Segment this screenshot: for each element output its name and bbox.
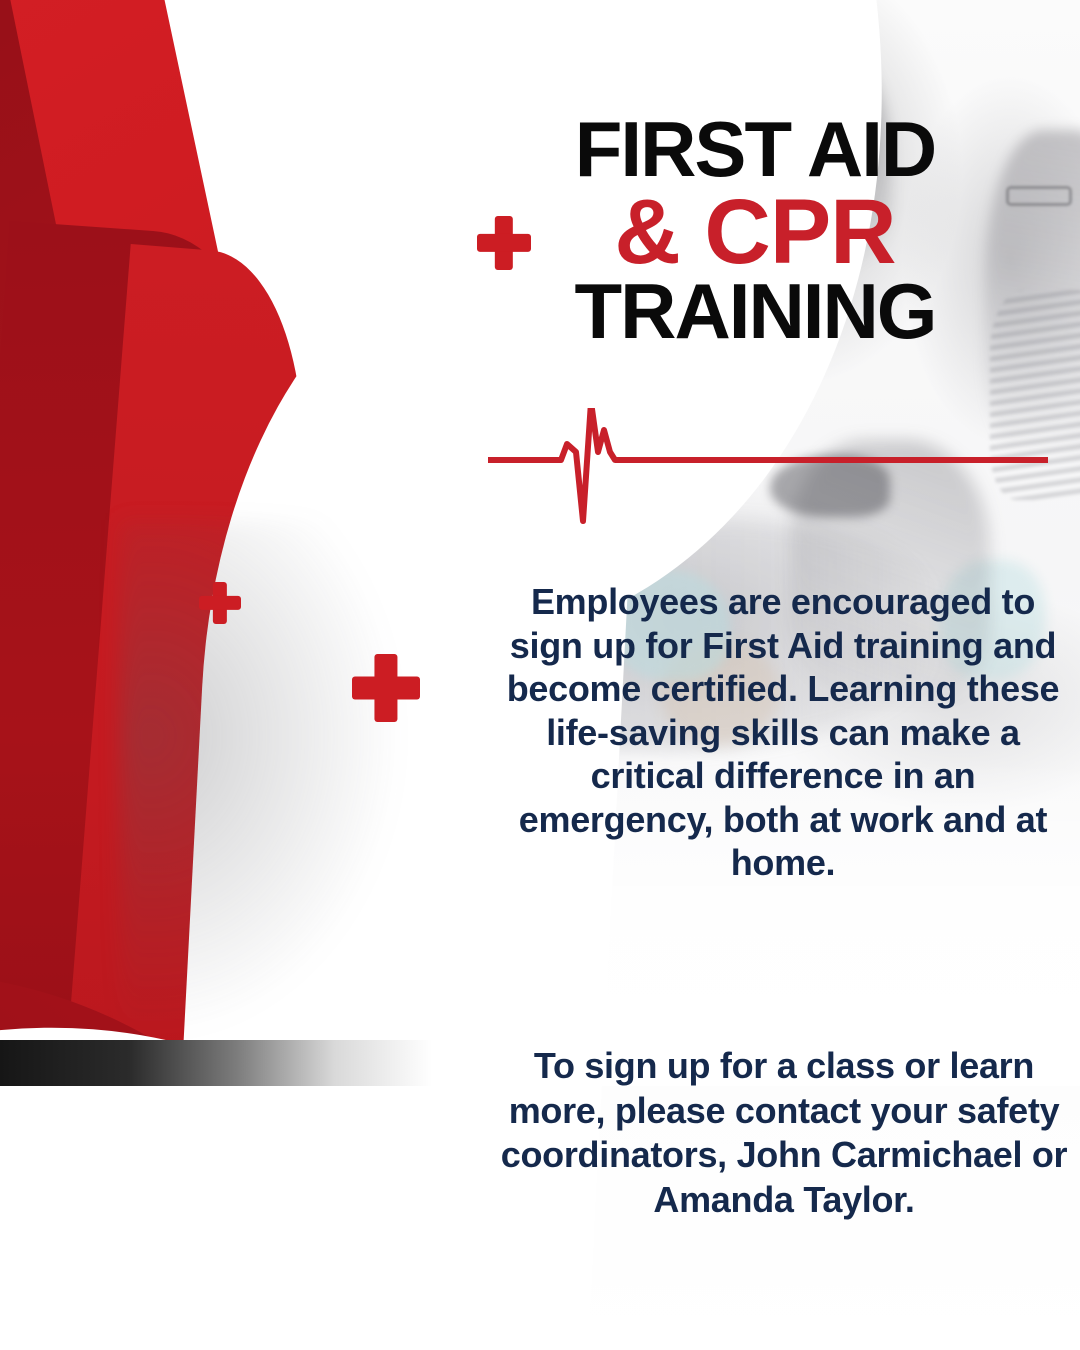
cta-paragraph: To sign up for a class or learn more, pl… [500,1044,1068,1223]
red-cross-icon [352,654,420,722]
title-line-training: TRAINING [470,276,1040,348]
title-line-first-aid: FIRST AID [470,114,1040,186]
title-line-cpr: & CPR [470,190,1040,275]
body-paragraph: Employees are encouraged to sign up for … [498,580,1068,885]
poster-canvas: First Aid Kit ZOLL AEDPLUS® 034-SAFE [0,0,1080,1350]
heartbeat-line-icon [488,408,1048,548]
swoosh-drop-shadow [120,520,420,1060]
page-title: FIRST AID & CPR TRAINING [470,114,1040,348]
red-cross-icon [199,582,241,624]
